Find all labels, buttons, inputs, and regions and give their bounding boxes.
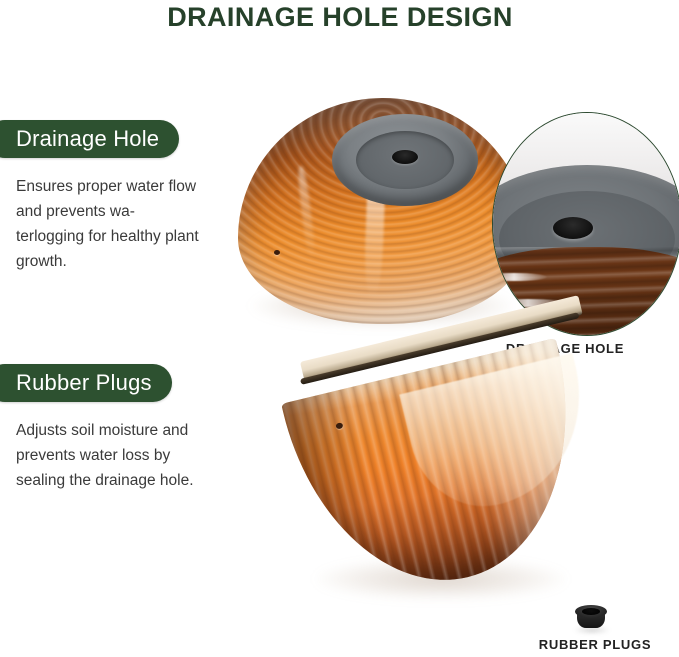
rubber-plug-photo — [575, 604, 607, 630]
drainage-hole-callout-circle — [492, 112, 679, 336]
feature-badge-rubber-plugs: Rubber Plugs — [0, 364, 172, 402]
caption-rubber-plugs: RUBBER PLUGS — [520, 637, 670, 652]
feature-badge-label: Rubber Plugs — [16, 370, 152, 396]
planter-side-drainage-hole — [274, 250, 280, 255]
drainage-hole — [392, 150, 418, 164]
rubber-plug-bore — [582, 608, 600, 615]
planter-ribbed-body — [238, 98, 528, 324]
feature-description-drainage-hole: Ensures proper water flow and prevents w… — [16, 174, 202, 274]
product-feature-infographic: DRAINAGE HOLE DESIGN Drainage Hole Ensur… — [0, 0, 679, 657]
planter-tilted-photo — [292, 362, 592, 612]
feature-badge-label: Drainage Hole — [16, 126, 159, 152]
callout-drainage-hole — [553, 217, 593, 239]
planter-base-plate — [332, 114, 478, 206]
planter-inverted-photo — [232, 88, 532, 340]
feature-description-rubber-plugs: Adjusts soil moisture and prevents water… — [16, 418, 202, 493]
page-title: DRAINAGE HOLE DESIGN — [110, 2, 570, 33]
feature-badge-drainage-hole: Drainage Hole — [0, 120, 179, 158]
